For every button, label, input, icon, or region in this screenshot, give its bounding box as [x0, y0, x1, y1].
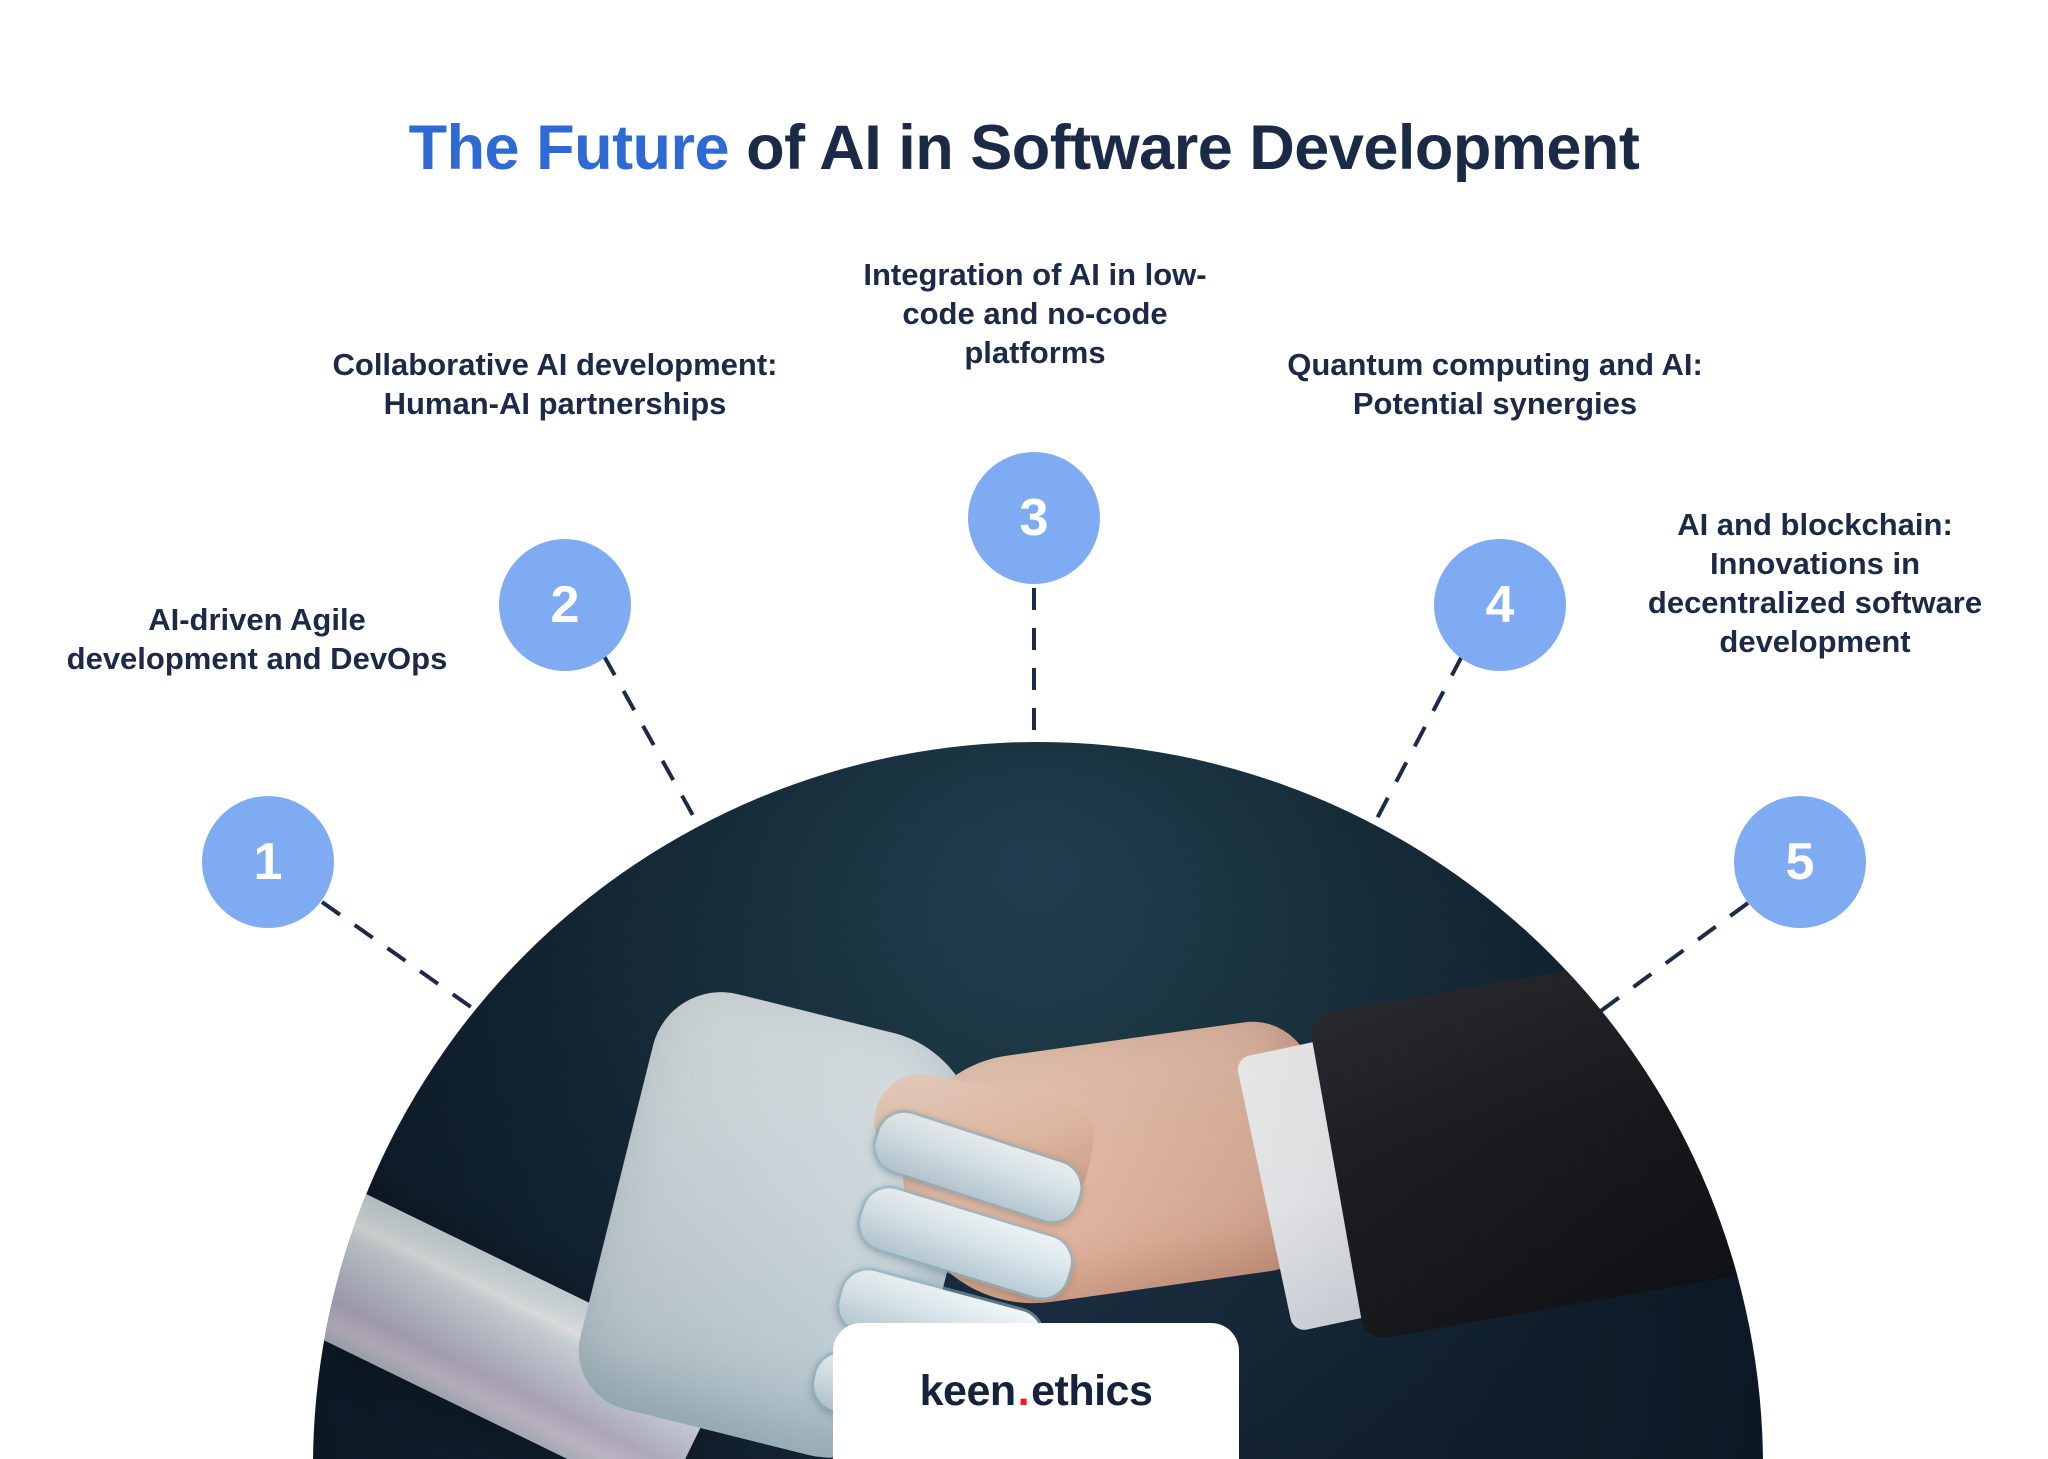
brand-logo-second: ethics — [1031, 1367, 1152, 1416]
page-title-rest: of AI in Software Development — [729, 113, 1639, 183]
step-badge-2[interactable]: 2 — [499, 539, 631, 671]
brand-logo-dot: . — [1016, 1367, 1031, 1416]
infographic-canvas: The Future of AI in Software Development… — [0, 0, 2048, 1459]
step-badge-5[interactable]: 5 — [1734, 796, 1866, 928]
step-label-3: Integration of AI in low-code and no-cod… — [830, 255, 1240, 372]
brand-logo[interactable]: keen.ethics — [920, 1367, 1153, 1416]
step-badge-1[interactable]: 1 — [202, 796, 334, 928]
step-label-4: Quantum computing and AI: Potential syne… — [1275, 345, 1715, 423]
step-label-2: Collaborative AI development: Human-AI p… — [320, 345, 790, 423]
page-title-accent: The Future — [409, 113, 730, 183]
step-label-1: AI-driven Agile development and DevOps — [58, 600, 456, 678]
logo-card: keen.ethics — [833, 1323, 1239, 1459]
brand-logo-first: keen — [920, 1367, 1016, 1416]
page-title: The Future of AI in Software Development — [0, 112, 2048, 184]
step-label-5: AI and blockchain: Innovations in decent… — [1615, 505, 2015, 661]
step-badge-4[interactable]: 4 — [1434, 539, 1566, 671]
step-badge-3[interactable]: 3 — [968, 452, 1100, 584]
